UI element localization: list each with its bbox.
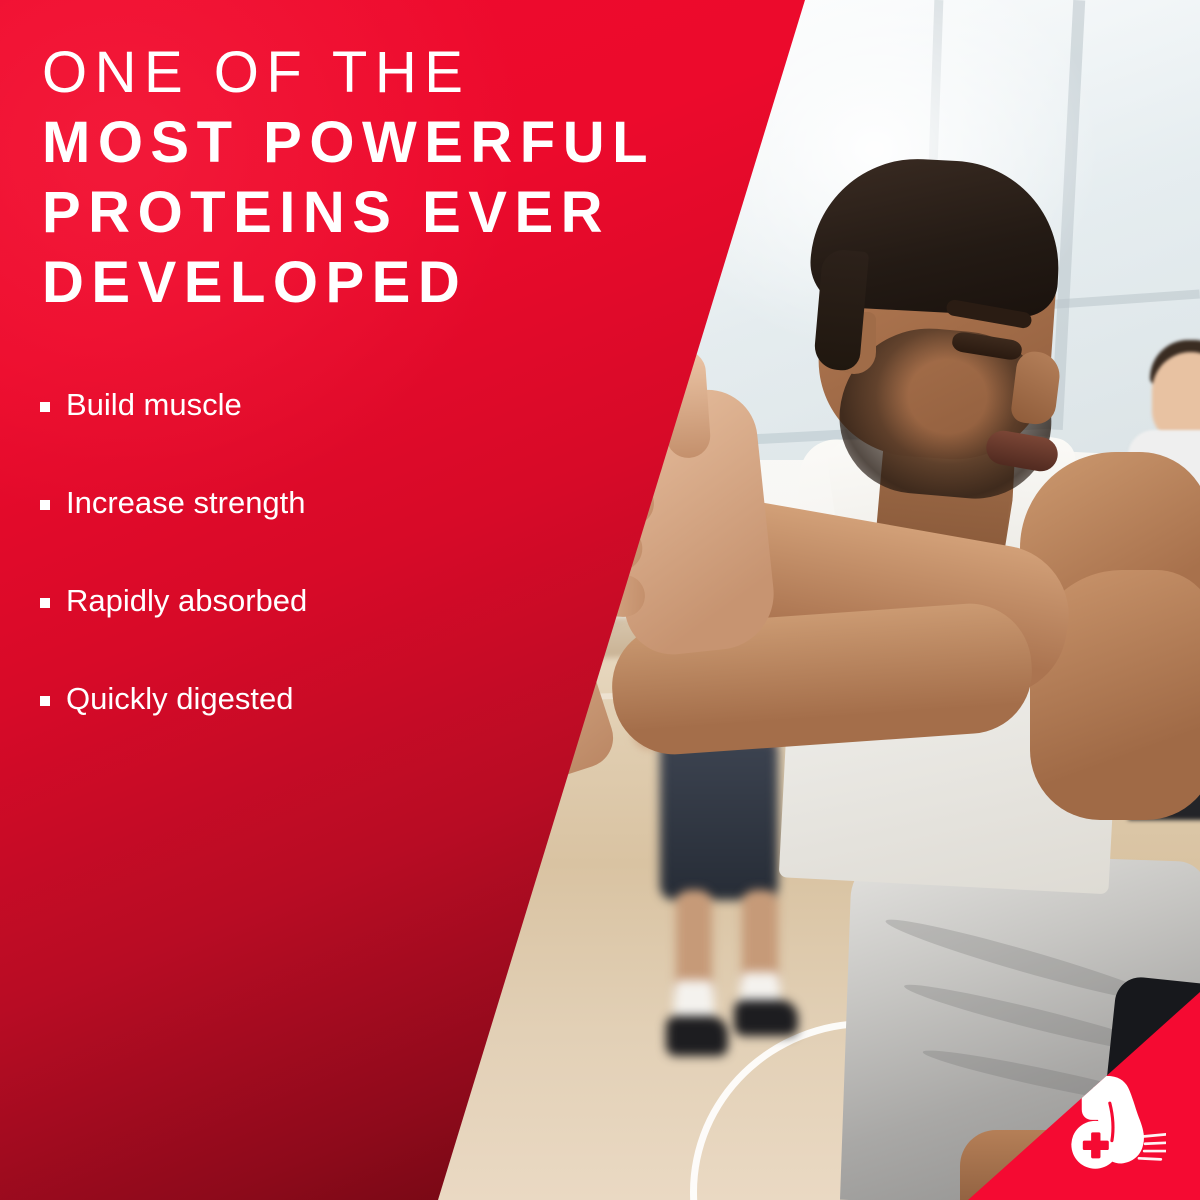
benefits-list: Build muscle Increase strength Rapidly a…: [40, 386, 510, 778]
headline: ONE OF THE MOST POWERFUL PROTEINS EVER D…: [42, 38, 782, 318]
bullet-square-icon: [40, 402, 50, 412]
headline-line-2: MOST POWERFUL: [42, 108, 782, 178]
background-player-shoe: [666, 1016, 728, 1056]
bullet-square-icon: [40, 598, 50, 608]
list-item: Build muscle: [40, 386, 510, 484]
background-player-shorts: [660, 740, 778, 900]
headline-line-1: ONE OF THE: [42, 38, 782, 108]
benefit-label: Increase strength: [66, 484, 306, 522]
headline-line-3: PROTEINS EVER: [42, 178, 782, 248]
bullet-square-icon: [40, 696, 50, 706]
background-player-shoe: [734, 1000, 798, 1036]
list-item: Rapidly absorbed: [40, 582, 510, 680]
list-item: Increase strength: [40, 484, 510, 582]
headline-line-4: DEVELOPED: [42, 248, 782, 318]
bullet-square-icon: [40, 500, 50, 510]
benefit-label: Build muscle: [66, 386, 242, 424]
promo-poster: ONE OF THE MOST POWERFUL PROTEINS EVER D…: [0, 0, 1200, 1200]
benefit-label: Rapidly absorbed: [66, 582, 307, 620]
benefit-label: Quickly digested: [66, 680, 293, 718]
list-item: Quickly digested: [40, 680, 510, 778]
